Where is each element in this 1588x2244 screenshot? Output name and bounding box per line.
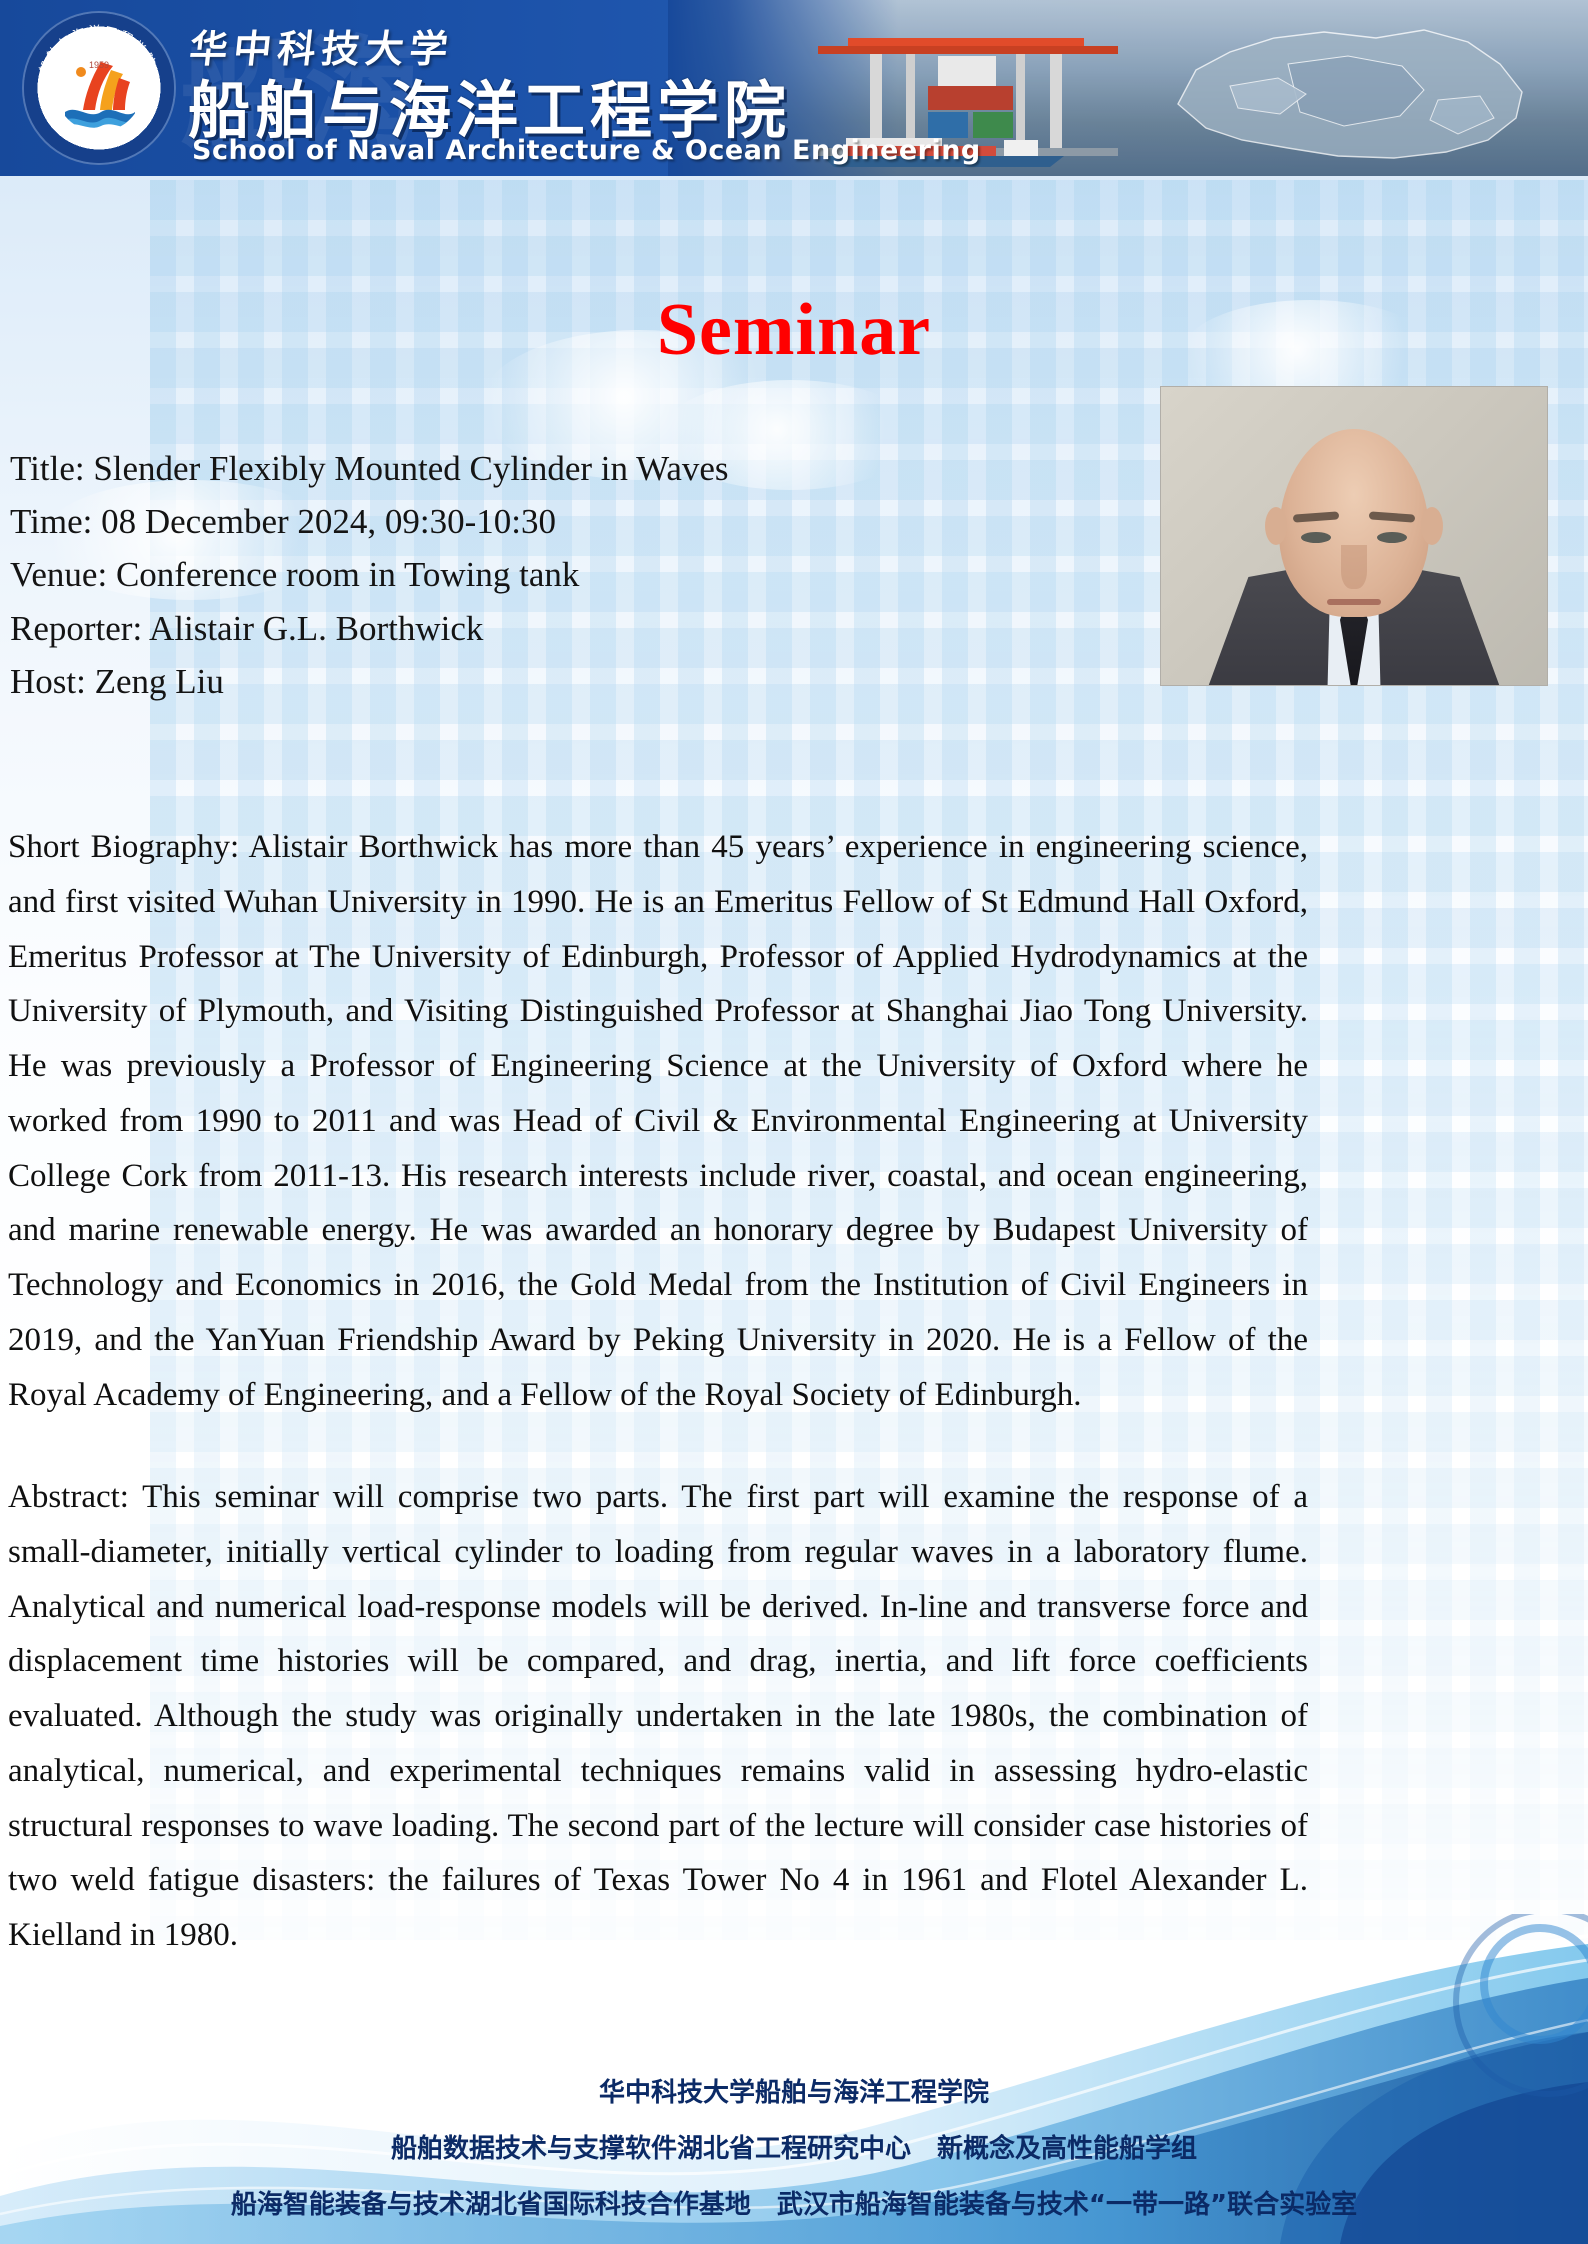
seminar-poster: 船海 船舶与海洋工程学院 SCHOOL OF NAVAL ARCHITECTUR… xyxy=(0,0,1588,2244)
photo-eye-left xyxy=(1301,532,1331,543)
info-host: Host: Zeng Liu xyxy=(10,655,1130,708)
photo-nose xyxy=(1341,545,1367,589)
page-title: Seminar xyxy=(0,288,1588,373)
photo-ear-left xyxy=(1265,507,1287,545)
china-map-outline xyxy=(1138,8,1568,176)
logo-year: 1959 xyxy=(89,60,109,70)
footer-line-3: 船海智能装备与技术湖北省国际科技合作基地 武汉市船海智能装备与技术“一带一路”联… xyxy=(0,2184,1588,2221)
short-biography-paragraph: Short Biography: Alistair Borthwick has … xyxy=(8,820,1308,1422)
footer-line-1: 华中科技大学船舶与海洋工程学院 xyxy=(0,2072,1588,2109)
logo-sail-wave-icon xyxy=(55,44,143,132)
photo-ear-right xyxy=(1421,507,1443,545)
footer-line-2: 船舶数据技术与支撑软件湖北省工程研究中心 新概念及高性能船学组 xyxy=(0,2128,1588,2165)
page-header: 船海 船舶与海洋工程学院 SCHOOL OF NAVAL ARCHITECTUR… xyxy=(0,0,1588,176)
seminar-info-block: Title: Slender Flexibly Mounted Cylinder… xyxy=(10,442,1130,708)
photo-eye-right xyxy=(1377,532,1407,543)
speaker-photo xyxy=(1160,386,1548,686)
school-logo: 船舶与海洋工程学院 SCHOOL OF NAVAL ARCHITECTURE &… xyxy=(24,13,174,163)
abstract-paragraph: Abstract: This seminar will comprise two… xyxy=(8,1470,1308,1963)
photo-mouth xyxy=(1327,599,1381,605)
info-reporter: Reporter: Alistair G.L. Borthwick xyxy=(10,602,1130,655)
info-title: Title: Slender Flexibly Mounted Cylinder… xyxy=(10,442,1130,495)
info-venue: Venue: Conference room in Towing tank xyxy=(10,548,1130,601)
header-school-name-en: School of Naval Architecture & Ocean Eng… xyxy=(192,135,981,166)
logo-emblem: 1959 xyxy=(55,44,143,132)
info-time: Time: 08 December 2024, 09:30-10:30 xyxy=(10,495,1130,548)
